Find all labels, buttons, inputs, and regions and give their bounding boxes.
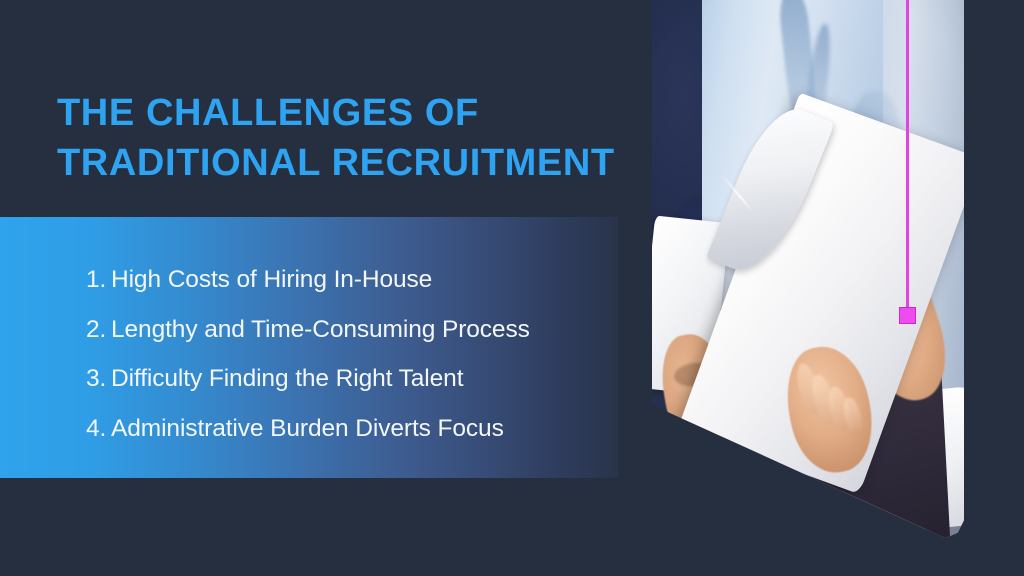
list-item-number: 2. <box>86 305 111 355</box>
page-title: THE CHALLENGES OF TRADITIONAL RECRUITMEN… <box>57 88 637 188</box>
list-item: 1. High Costs of Hiring In-House <box>86 255 618 305</box>
list-item-number: 1. <box>86 255 111 305</box>
list-item-label: Difficulty Finding the Right Talent <box>111 354 463 404</box>
challenges-panel: 1. High Costs of Hiring In-House 2. Leng… <box>0 217 618 478</box>
list-item-number: 4. <box>86 404 111 454</box>
guide-drag-handle[interactable] <box>899 307 916 324</box>
challenges-list: 1. High Costs of Hiring In-House 2. Leng… <box>0 217 618 478</box>
list-item-label: Lengthy and Time-Consuming Process <box>111 305 530 355</box>
list-item-number: 3. <box>86 354 111 404</box>
photo-frame <box>652 0 964 576</box>
list-item: 4. Administrative Burden Diverts Focus <box>86 404 618 454</box>
vertical-guide-line-icon[interactable] <box>906 0 909 313</box>
photo-vignette <box>652 0 964 576</box>
list-item-label: Administrative Burden Diverts Focus <box>111 404 504 454</box>
list-item-label: High Costs of Hiring In-House <box>111 255 432 305</box>
list-item: 3. Difficulty Finding the Right Talent <box>86 354 618 404</box>
title-line-2: TRADITIONAL RECRUITMENT <box>57 138 637 188</box>
title-line-1: THE CHALLENGES OF <box>57 88 637 138</box>
recruitment-photo <box>652 0 964 576</box>
slide-canvas: THE CHALLENGES OF TRADITIONAL RECRUITMEN… <box>0 0 1024 576</box>
list-item: 2. Lengthy and Time-Consuming Process <box>86 305 618 355</box>
